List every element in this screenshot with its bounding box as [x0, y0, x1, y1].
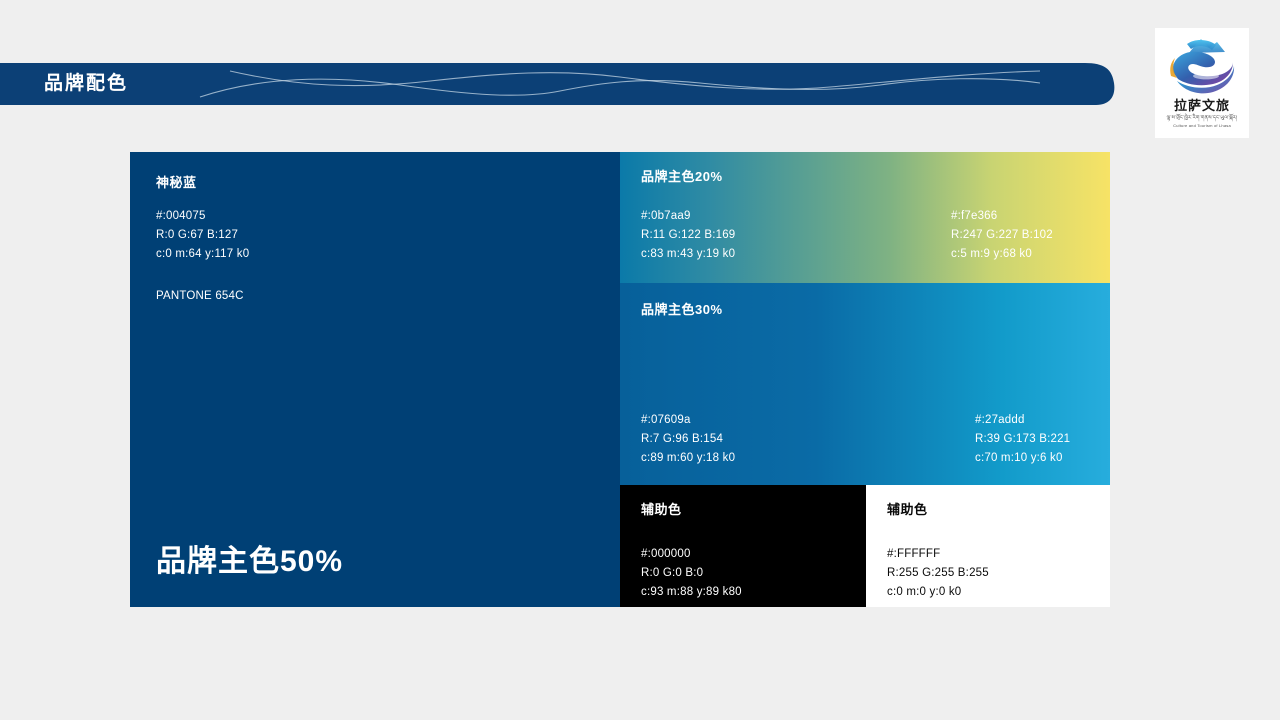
- swatch-hex: #:f7e366: [951, 207, 1053, 226]
- swatch-values-right: #:27addd R:39 G:173 B:221 c:70 m:10 y:6 …: [975, 411, 1070, 468]
- swatch-rgb: R:247 G:227 B:102: [951, 226, 1053, 245]
- swatch-hex: #:000000: [641, 545, 742, 564]
- swatch-values: #:FFFFFF R:255 G:255 B:255 c:0 m:0 y:0 k…: [887, 545, 989, 602]
- swatch-values: #:004075 R:0 G:67 B:127 c:0 m:64 y:117 k…: [156, 207, 249, 264]
- swatch-cmyk: c:93 m:88 y:89 k80: [641, 583, 742, 602]
- palette-board: 神秘蓝 #:004075 R:0 G:67 B:127 c:0 m:64 y:1…: [130, 152, 1110, 607]
- swatch-brand-20[interactable]: 品牌主色20% #:0b7aa9 R:11 G:122 B:169 c:83 m…: [620, 152, 1110, 283]
- logo-name-cn: 拉萨文旅: [1174, 99, 1230, 113]
- swatch-hex: #:27addd: [975, 411, 1070, 430]
- swatch-title: 品牌主色20%: [641, 168, 723, 186]
- logo: 拉萨文旅 ལྷ་ས་གྲོང་ཁྱེར་རིག་གནས་དང་ཡུལ་སྐོར།…: [1155, 28, 1249, 138]
- swatch-rgb: R:11 G:122 B:169: [641, 226, 735, 245]
- swatch-rgb: R:39 G:173 B:221: [975, 430, 1070, 449]
- swatch-hex: #:FFFFFF: [887, 545, 989, 564]
- swatch-cmyk: c:5 m:9 y:68 k0: [951, 245, 1053, 264]
- swatch-aux-black[interactable]: 辅助色 #:000000 R:0 G:0 B:0 c:93 m:88 y:89 …: [620, 485, 866, 607]
- swatch-brand-30[interactable]: 品牌主色30% #:07609a R:7 G:96 B:154 c:89 m:6…: [620, 283, 1110, 485]
- swatch-rgb: R:7 G:96 B:154: [641, 430, 735, 449]
- swatch-cmyk: c:70 m:10 y:6 k0: [975, 449, 1070, 468]
- lhasa-tourism-logo-icon: [1165, 36, 1239, 98]
- swatch-cmyk: c:89 m:60 y:18 k0: [641, 449, 735, 468]
- swatch-rgb: R:255 G:255 B:255: [887, 564, 989, 583]
- banner-shape: [0, 63, 1120, 105]
- swatch-values-right: #:f7e366 R:247 G:227 B:102 c:5 m:9 y:68 …: [951, 207, 1053, 264]
- swatch-aux-white[interactable]: 辅助色 #:FFFFFF R:255 G:255 B:255 c:0 m:0 y…: [866, 485, 1110, 607]
- swatch-title: 辅助色: [641, 501, 682, 519]
- swatch-title: 辅助色: [887, 501, 928, 519]
- page-title: 品牌配色: [44, 71, 128, 97]
- swatch-hex: #:0b7aa9: [641, 207, 735, 226]
- swatch-title: 品牌主色30%: [641, 301, 723, 319]
- swatch-cmyk: c:83 m:43 y:19 k0: [641, 245, 735, 264]
- swatch-hex: #:004075: [156, 207, 249, 226]
- swatch-hex: #:07609a: [641, 411, 735, 430]
- swatch-values-left: #:07609a R:7 G:96 B:154 c:89 m:60 y:18 k…: [641, 411, 735, 468]
- slide-canvas: 品牌配色: [0, 0, 1280, 720]
- swatch-values: #:000000 R:0 G:0 B:0 c:93 m:88 y:89 k80: [641, 545, 742, 602]
- logo-name-en: Culture and Tourism of Lhasa: [1173, 123, 1231, 129]
- swatch-cmyk: c:0 m:0 y:0 k0: [887, 583, 989, 602]
- swatch-big-label: 品牌主色50%: [156, 543, 343, 581]
- header-banner: [0, 63, 1120, 105]
- swatch-values-left: #:0b7aa9 R:11 G:122 B:169 c:83 m:43 y:19…: [641, 207, 735, 264]
- swatch-mystic-blue[interactable]: 神秘蓝 #:004075 R:0 G:67 B:127 c:0 m:64 y:1…: [130, 152, 620, 607]
- swatch-cmyk: c:0 m:64 y:117 k0: [156, 245, 249, 264]
- swatch-rgb: R:0 G:0 B:0: [641, 564, 742, 583]
- swatch-pantone: PANTONE 654C: [156, 287, 244, 306]
- swatch-title: 神秘蓝: [156, 174, 197, 192]
- swatch-rgb: R:0 G:67 B:127: [156, 226, 249, 245]
- logo-name-tibetan: ལྷ་ས་གྲོང་ཁྱེར་རིག་གནས་དང་ཡུལ་སྐོར།: [1167, 115, 1238, 122]
